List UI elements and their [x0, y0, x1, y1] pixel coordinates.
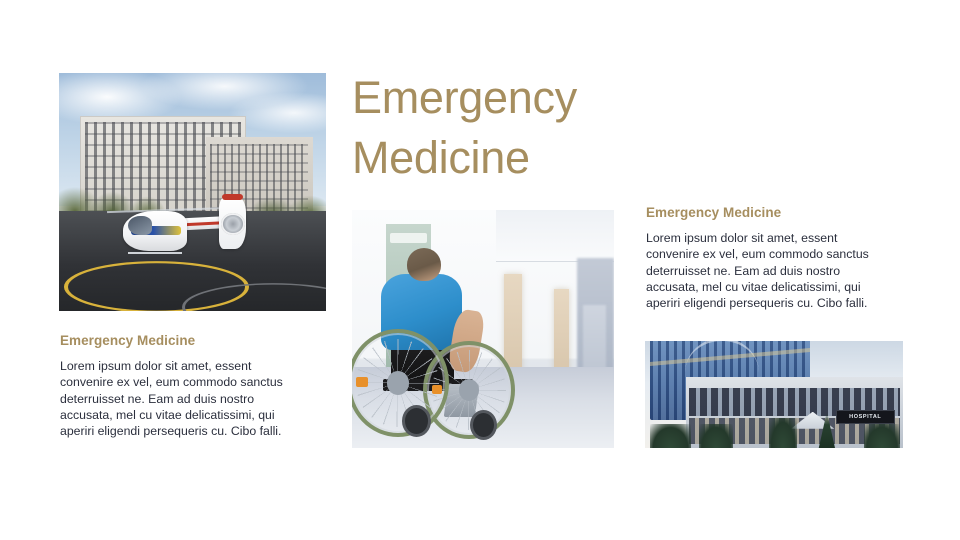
shrub [864, 424, 900, 448]
image-hospital-exterior: HOSPITAL [645, 341, 903, 448]
helicopter-landing-skid [128, 252, 181, 254]
corridor-scene [352, 210, 614, 448]
slide-canvas: Emergency Medicine [0, 0, 960, 540]
helicopter-fenestron [221, 213, 245, 234]
page-title: Emergency Medicine [352, 68, 652, 188]
section-heading-right: Emergency Medicine [646, 205, 881, 220]
hospital-sign-label: HOSPITAL [849, 414, 881, 420]
wheel-hub [387, 371, 410, 395]
corridor-ceiling [496, 210, 614, 262]
shrub [650, 424, 691, 448]
image-helicopter-helipad [59, 73, 326, 311]
shrub [699, 424, 733, 448]
hospital-sign: HOSPITAL [836, 410, 895, 425]
tower-curved-cornice [685, 341, 759, 373]
wheel-reflector [356, 377, 367, 387]
image-patient-wheelchair [352, 210, 614, 448]
patient-head [407, 248, 441, 281]
wheel-hub [459, 379, 479, 401]
shrub [769, 418, 797, 448]
text-block-right: Emergency Medicine Lorem ipsum dolor sit… [646, 205, 881, 312]
section-body-left: Lorem ipsum dolor sit amet, essent conve… [60, 358, 305, 440]
building-scene: HOSPITAL [645, 341, 903, 448]
corridor-door [554, 289, 570, 375]
section-body-right: Lorem ipsum dolor sit amet, essent conve… [646, 230, 881, 312]
wheelchair-wheel [352, 329, 449, 437]
helicopter-scene [59, 73, 326, 311]
text-block-left: Emergency Medicine Lorem ipsum dolor sit… [60, 333, 305, 440]
helicopter-cockpit-window [128, 216, 152, 235]
wheelchair-caster [470, 410, 497, 440]
section-heading-left: Emergency Medicine [60, 333, 305, 348]
